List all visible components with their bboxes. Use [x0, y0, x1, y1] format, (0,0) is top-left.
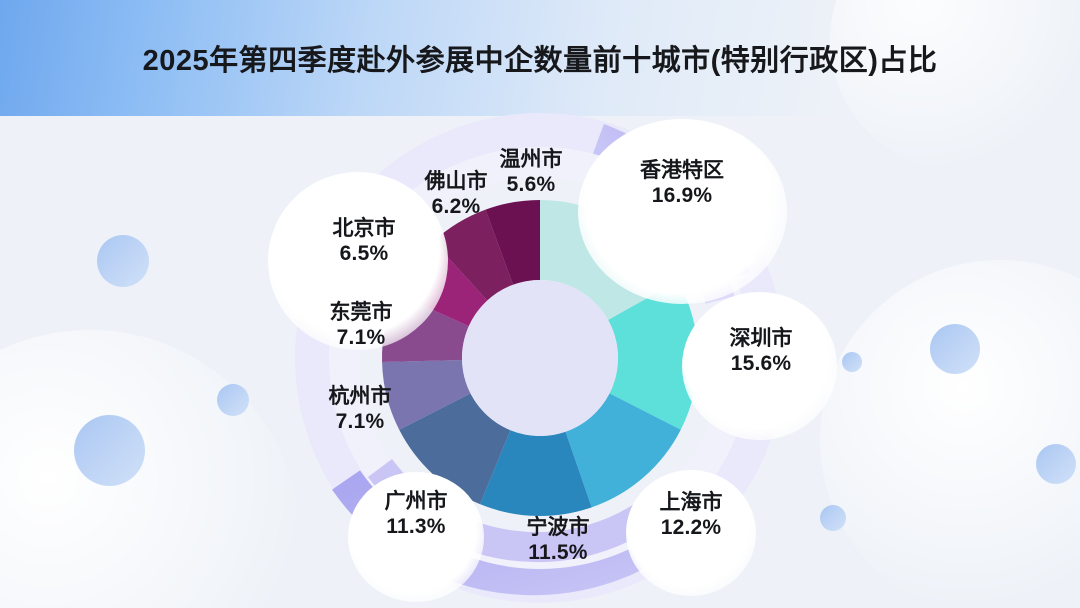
slice-label-name: 上海市 — [610, 491, 772, 516]
decorative-dot-1 — [97, 235, 149, 287]
background-glow-left — [0, 330, 300, 608]
decorative-dot-4 — [930, 324, 980, 374]
slice-label-value: 11.5% — [477, 541, 639, 566]
slice-label-name: 广州市 — [335, 490, 497, 515]
slice-label-name: 深圳市 — [673, 327, 849, 352]
slice-label-value: 16.9% — [582, 184, 782, 209]
slice-label-name: 北京市 — [283, 217, 445, 242]
decorative-dot-6 — [820, 505, 846, 531]
slice-label-hangzhou: 杭州市 7.1% — [285, 385, 435, 435]
slice-label-value: 6.5% — [283, 242, 445, 267]
slice-label-beijing: 北京市 6.5% — [283, 217, 445, 267]
label-bubble-hongkong — [578, 119, 787, 304]
slice-label-value: 6.2% — [386, 195, 526, 220]
donut-center-hole — [462, 280, 618, 436]
decorative-dot-2 — [74, 415, 145, 486]
decorative-dot-5 — [1036, 444, 1076, 484]
slice-label-value: 5.6% — [461, 173, 601, 198]
decorative-dot-3 — [217, 384, 249, 416]
slice-label-value: 15.6% — [673, 352, 849, 377]
slice-label-name: 东莞市 — [286, 301, 436, 326]
slice-label-name: 温州市 — [461, 148, 601, 173]
slice-label-value: 11.3% — [335, 515, 497, 540]
slice-label-shenzhen: 深圳市 15.6% — [673, 327, 849, 377]
slice-label-value: 7.1% — [286, 326, 436, 351]
background-glow-right — [820, 260, 1080, 608]
slice-label-hongkong: 香港特区 16.9% — [582, 159, 782, 209]
slice-label-name: 杭州市 — [285, 385, 435, 410]
page-title: 2025年第四季度赴外参展中企数量前十城市(特别行政区)占比 — [0, 0, 1080, 116]
infographic-canvas: 2025年第四季度赴外参展中企数量前十城市(特别行政区)占比 — [0, 0, 1080, 608]
slice-label-wenzhou: 温州市 5.6% — [461, 148, 601, 198]
slice-label-name: 宁波市 — [477, 516, 639, 541]
slice-label-name: 香港特区 — [582, 159, 782, 184]
slice-label-ningbo: 宁波市 11.5% — [477, 516, 639, 566]
slice-label-value: 7.1% — [285, 410, 435, 435]
slice-label-dongguan: 东莞市 7.1% — [286, 301, 436, 351]
slice-label-guangzhou: 广州市 11.3% — [335, 490, 497, 540]
